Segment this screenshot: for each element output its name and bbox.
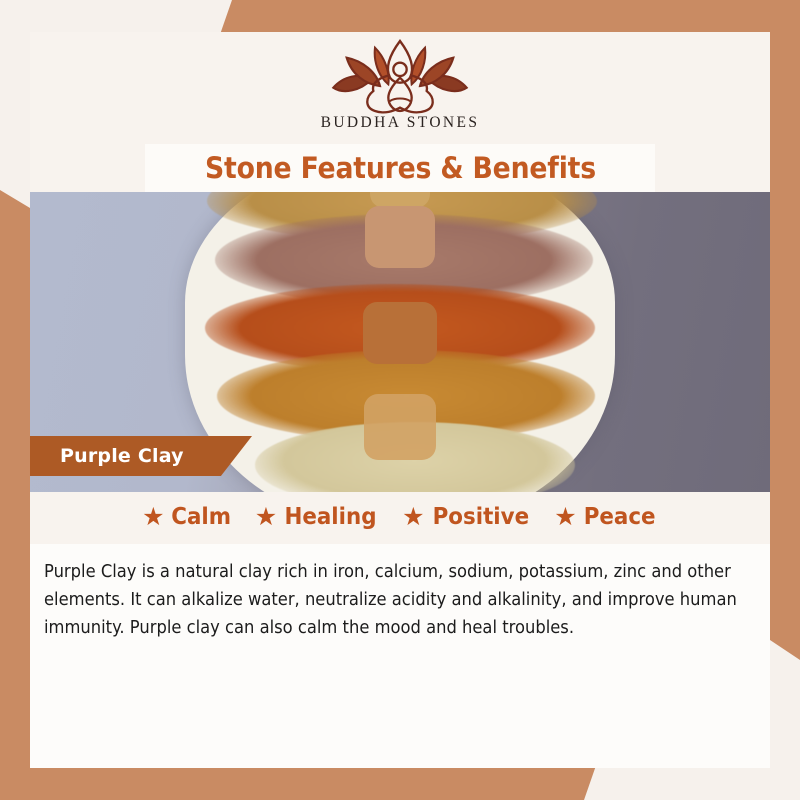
star-icon: ★ [402, 505, 424, 530]
lotus-meditation-icon [315, 36, 485, 116]
powder-square-3 [364, 394, 436, 460]
title-banner: Stone Features & Benefits [145, 144, 655, 192]
content-card: BUDDHA STONES Stone Features & Benefits … [30, 32, 770, 768]
benefit-label: Peace [583, 504, 655, 530]
benefit-item-calm: ★ Calm [142, 504, 233, 530]
page-title: Stone Features & Benefits [205, 151, 596, 185]
benefits-row: ★ Calm ★ Healing ★ Positive ★ Peace [30, 504, 770, 530]
star-icon: ★ [554, 505, 576, 530]
description-text: Purple Clay is a natural clay rich in ir… [44, 558, 745, 643]
product-name-tab: Purple Clay [30, 436, 252, 476]
product-name-label: Purple Clay [60, 445, 184, 467]
benefit-label: Positive [432, 504, 528, 530]
benefit-label: Healing [285, 504, 377, 530]
benefit-item-healing: ★ Healing [255, 504, 380, 530]
benefit-item-peace: ★ Peace [554, 504, 658, 530]
benefit-label: Calm [171, 504, 231, 530]
star-icon: ★ [255, 505, 277, 530]
star-icon: ★ [142, 505, 164, 530]
powder-square-1 [365, 206, 435, 268]
brand-name: BUDDHA STONES [321, 114, 480, 132]
description-panel: Purple Clay is a natural clay rich in ir… [30, 544, 770, 768]
plate-shape [185, 192, 615, 492]
powder-square-2 [363, 302, 437, 364]
frame-band-right [770, 0, 800, 660]
benefit-item-positive: ★ Positive [402, 504, 532, 530]
brand-header: BUDDHA STONES [30, 32, 770, 144]
frame-band-left [0, 190, 30, 800]
